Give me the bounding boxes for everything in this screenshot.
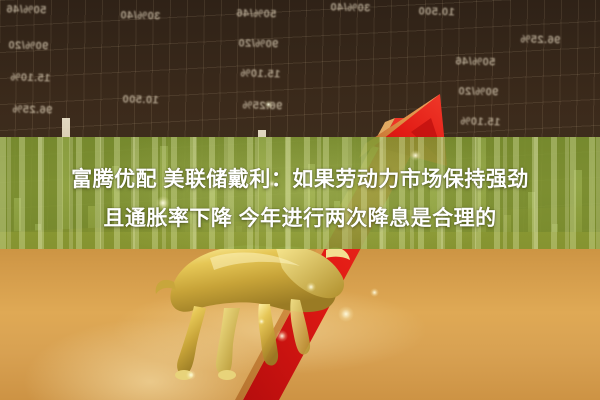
board-number: 15.10% xyxy=(240,67,281,80)
board-number: 15.10% xyxy=(460,115,501,128)
board-number: 96.25% xyxy=(12,103,53,116)
board-number: 30%/40 xyxy=(120,9,161,22)
board-number: 90%/20 xyxy=(8,39,49,52)
board-number: 50%/46 xyxy=(236,7,277,20)
banner-image: 50%/46 90%/20 15.10% 96.25% 30%/40 10.50… xyxy=(0,0,600,400)
board-number: 10.500 xyxy=(122,94,159,107)
headline-line-2: 且通胀率下降 今年进行两次降息是合理的 xyxy=(0,199,600,238)
board-number: 96.25% xyxy=(520,33,561,46)
board-number: 15.10% xyxy=(10,71,51,84)
board-number: 90%/20 xyxy=(238,37,279,50)
board-number: 50%/46 xyxy=(455,55,496,68)
board-number: 30%/40 xyxy=(330,1,371,14)
board-number: 50%/46 xyxy=(6,3,47,16)
headline: 富腾优配 美联储戴利：如果劳动力市场保持强劲 且通胀率下降 今年进行两次降息是合… xyxy=(0,160,600,238)
board-number: 10.500 xyxy=(418,6,455,19)
golden-bull-statue xyxy=(150,236,360,386)
headline-line-1: 富腾优配 美联储戴利：如果劳动力市场保持强劲 xyxy=(0,160,600,199)
